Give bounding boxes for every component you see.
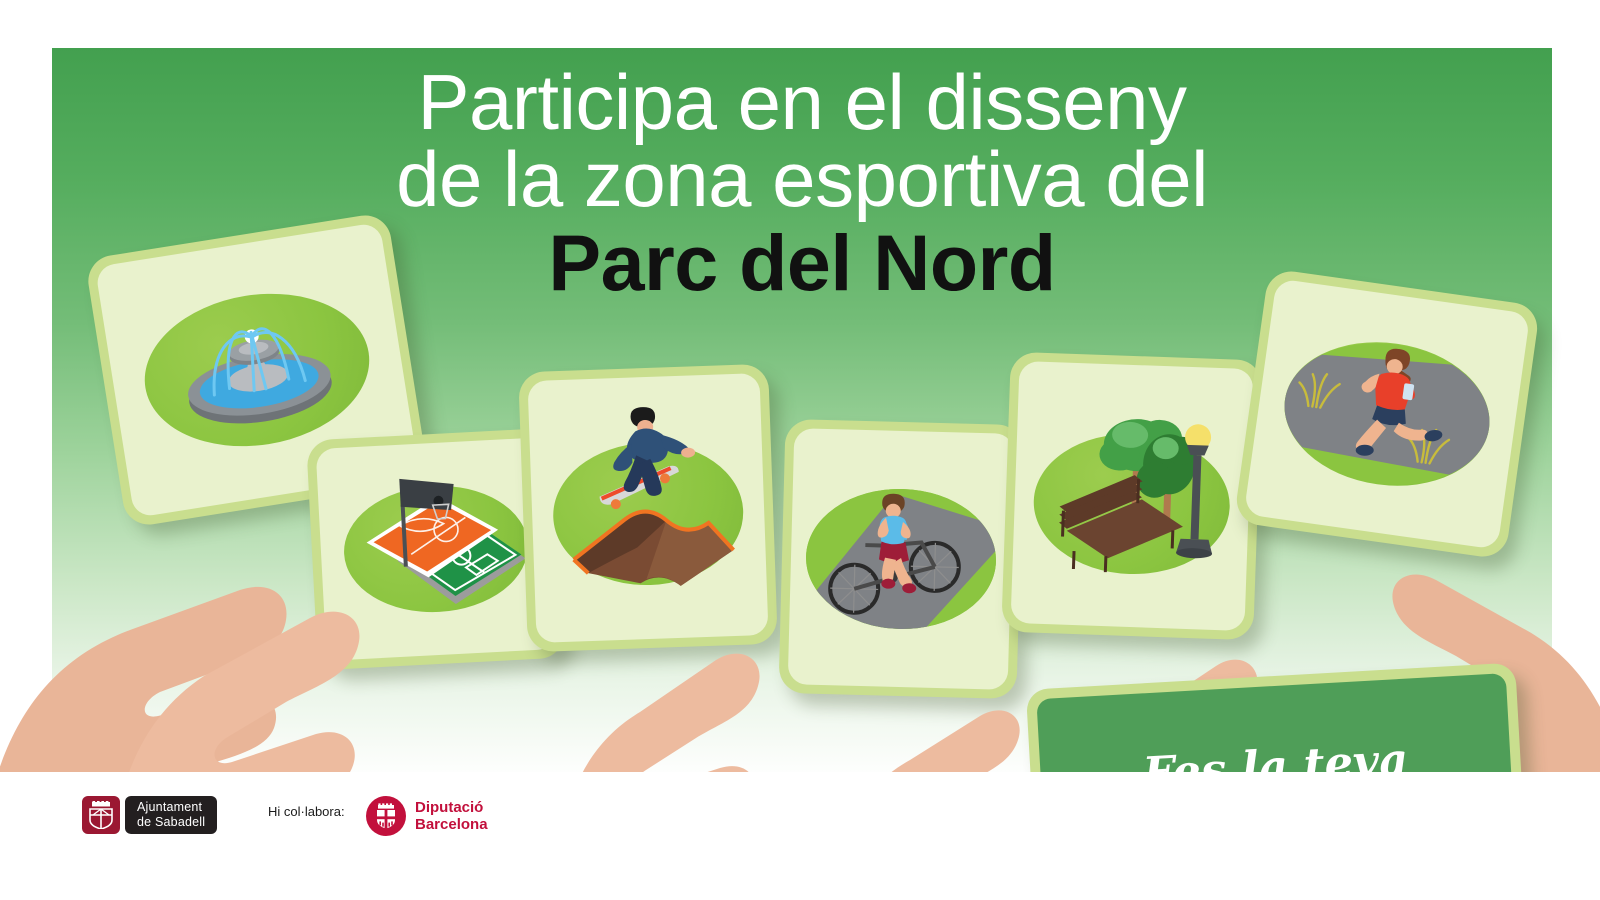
ajuntament-name: Ajuntament de Sabadell	[125, 796, 217, 834]
diputacio-shield-icon	[366, 796, 406, 836]
fountain-icon	[156, 279, 357, 455]
diputacio-logo[interactable]: Diputació Barcelona	[366, 796, 488, 836]
diputacio-line-2: Barcelona	[415, 816, 488, 833]
ajuntament-line-2: de Sabadell	[137, 815, 205, 830]
footer-bar: Ajuntament de Sabadell Hi col·labora:	[0, 772, 1600, 900]
collaborates-label: Hi col·labora:	[268, 804, 345, 819]
diputacio-line-1: Diputació	[415, 799, 488, 816]
ajuntament-line-1: Ajuntament	[137, 800, 205, 815]
sabadell-shield-icon	[82, 796, 120, 834]
diputacio-name: Diputació Barcelona	[415, 799, 488, 834]
ajuntament-logo[interactable]: Ajuntament de Sabadell	[82, 796, 217, 834]
running-path-icon	[1273, 325, 1502, 503]
poster-canvas: Participa en el disseny de la zona espor…	[0, 0, 1600, 900]
